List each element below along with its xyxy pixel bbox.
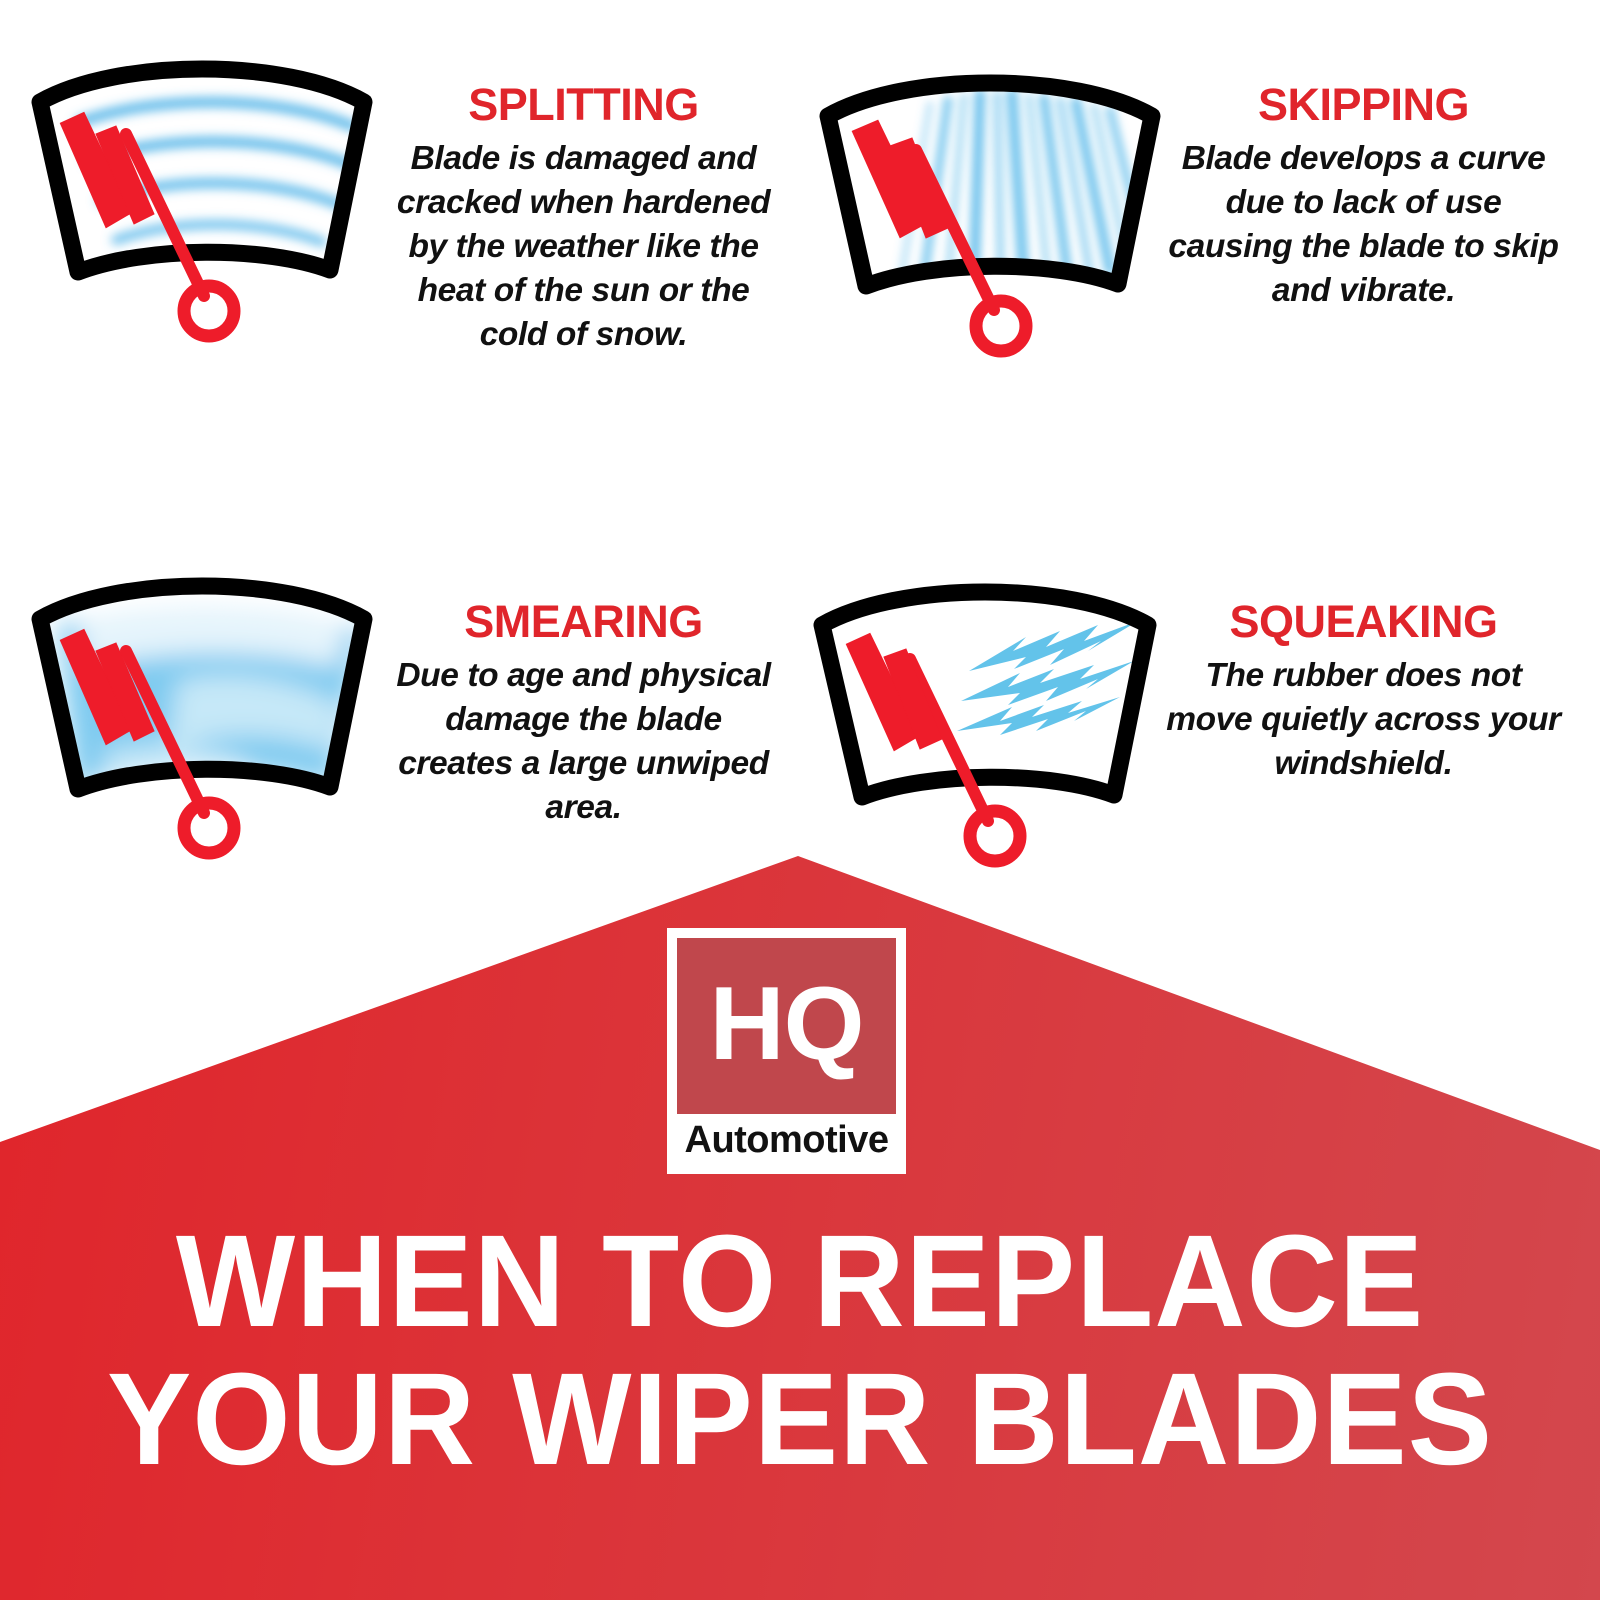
symptom-title: SPLITTING <box>386 82 781 127</box>
symptom-card-squeaking: SQUEAKING The rubber does not move quiet… <box>798 555 1561 885</box>
logo-mark-text: HQ <box>710 972 864 1076</box>
headline: WHEN TO REPLACE YOUR WIPER BLADES <box>0 1212 1600 1488</box>
symptom-text-splitting: SPLITTING Blade is damaged and cracked w… <box>386 38 781 356</box>
infographic-poster: SPLITTING Blade is damaged and cracked w… <box>0 0 1600 1600</box>
symptom-title: SKIPPING <box>1166 82 1561 127</box>
symptom-card-splitting: SPLITTING Blade is damaged and cracked w… <box>18 38 781 368</box>
wiper-squeaking-icon <box>798 555 1166 885</box>
symptom-description: Blade is damaged and cracked when harden… <box>386 137 781 356</box>
symptom-text-skipping: SKIPPING Blade develops a curve due to l… <box>1166 38 1561 313</box>
headline-line-1: WHEN TO REPLACE <box>28 1212 1572 1350</box>
symptom-card-grid: SPLITTING Blade is damaged and cracked w… <box>0 0 1600 860</box>
symptom-title: SMEARING <box>386 599 781 644</box>
symptom-text-squeaking: SQUEAKING The rubber does not move quiet… <box>1166 555 1561 786</box>
symptom-title: SQUEAKING <box>1166 599 1561 644</box>
headline-line-2: YOUR WIPER BLADES <box>28 1350 1572 1488</box>
logo-wordmark: Automotive <box>677 1116 896 1164</box>
symptom-description: Due to age and physical damage the blade… <box>386 654 781 830</box>
wiper-smearing-icon <box>18 555 386 885</box>
symptom-description: The rubber does not move quietly across … <box>1166 654 1561 786</box>
bottom-banner: HQ Automotive WHEN TO REPLACE YOUR WIPER… <box>0 840 1600 1600</box>
symptom-card-smearing: SMEARING Due to age and physical damage … <box>18 555 781 885</box>
wiper-splitting-icon <box>18 38 386 368</box>
symptom-text-smearing: SMEARING Due to age and physical damage … <box>386 555 781 830</box>
symptom-description: Blade develops a curve due to lack of us… <box>1166 137 1561 313</box>
wiper-skipping-icon <box>798 38 1166 368</box>
hq-automotive-logo: HQ Automotive <box>667 928 906 1174</box>
symptom-card-skipping: SKIPPING Blade develops a curve due to l… <box>798 38 1561 368</box>
logo-mark-box: HQ <box>677 938 896 1114</box>
